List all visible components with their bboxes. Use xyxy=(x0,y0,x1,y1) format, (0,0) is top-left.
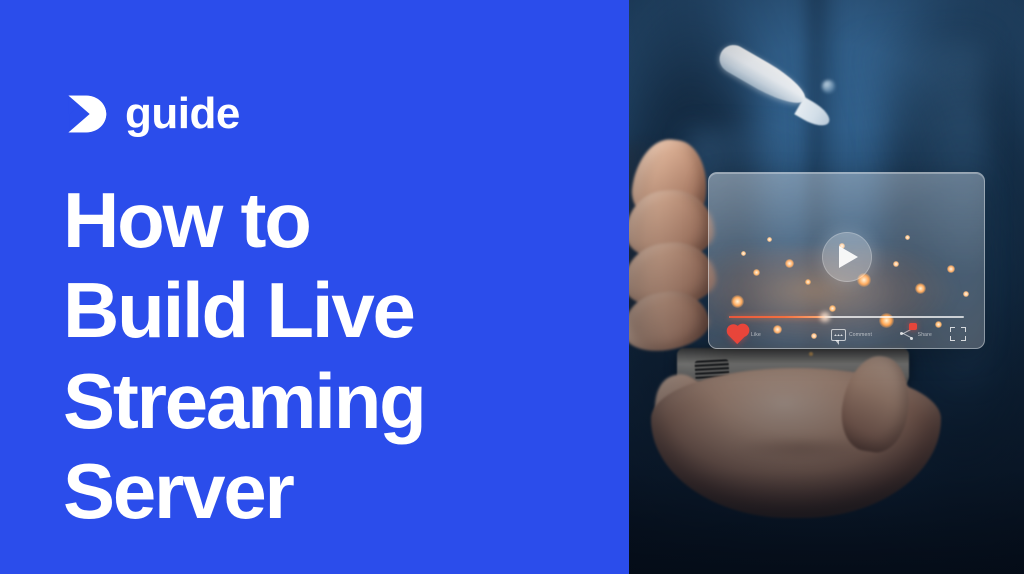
fullscreen-icon xyxy=(950,327,966,341)
heart-icon xyxy=(728,326,746,344)
bokeh-particle xyxy=(915,283,926,294)
share-icon xyxy=(900,327,915,342)
comment-bubble-icon xyxy=(831,329,846,341)
bokeh-particle xyxy=(741,251,746,256)
play-icon xyxy=(839,246,858,268)
brand-name: guide xyxy=(125,92,240,136)
like-label: Like xyxy=(751,332,761,338)
bokeh-particle xyxy=(905,235,910,240)
video-progress-bar[interactable] xyxy=(729,316,964,318)
bokeh-particle xyxy=(767,237,772,242)
bokeh-particle xyxy=(805,279,811,285)
bokeh-particle xyxy=(753,269,760,276)
like-button[interactable]: Like xyxy=(729,327,761,343)
floating-video-player[interactable]: Like Comment Share xyxy=(708,172,985,349)
comment-button[interactable]: Comment xyxy=(831,329,872,341)
video-control-row: Like Comment Share xyxy=(727,323,968,349)
bokeh-particle xyxy=(947,265,955,273)
bokeh-particle xyxy=(785,259,794,268)
bokeh-particle xyxy=(963,291,969,297)
video-progress-fill xyxy=(729,316,825,318)
banner: guide How to Build Live Streaming Server xyxy=(0,0,1024,574)
guide-arrow-mark-icon xyxy=(63,91,109,137)
play-button[interactable] xyxy=(822,232,872,282)
share-button[interactable]: Share xyxy=(900,327,932,342)
bokeh-particle xyxy=(893,261,899,267)
comment-dots xyxy=(834,334,843,336)
bokeh-particle xyxy=(731,295,744,308)
share-notification-badge xyxy=(909,323,917,330)
fullscreen-button[interactable] xyxy=(950,327,966,341)
brand-lockup: guide xyxy=(63,86,240,142)
right-photo-panel: Like Comment Share xyxy=(629,0,1024,574)
share-label: Share xyxy=(918,332,932,338)
bokeh-particle xyxy=(829,305,836,312)
comment-label: Comment xyxy=(849,332,872,338)
page-title: How to Build Live Streaming Server xyxy=(63,175,593,537)
video-progress-handle[interactable] xyxy=(820,312,830,322)
left-blue-panel: guide How to Build Live Streaming Server xyxy=(0,0,629,574)
